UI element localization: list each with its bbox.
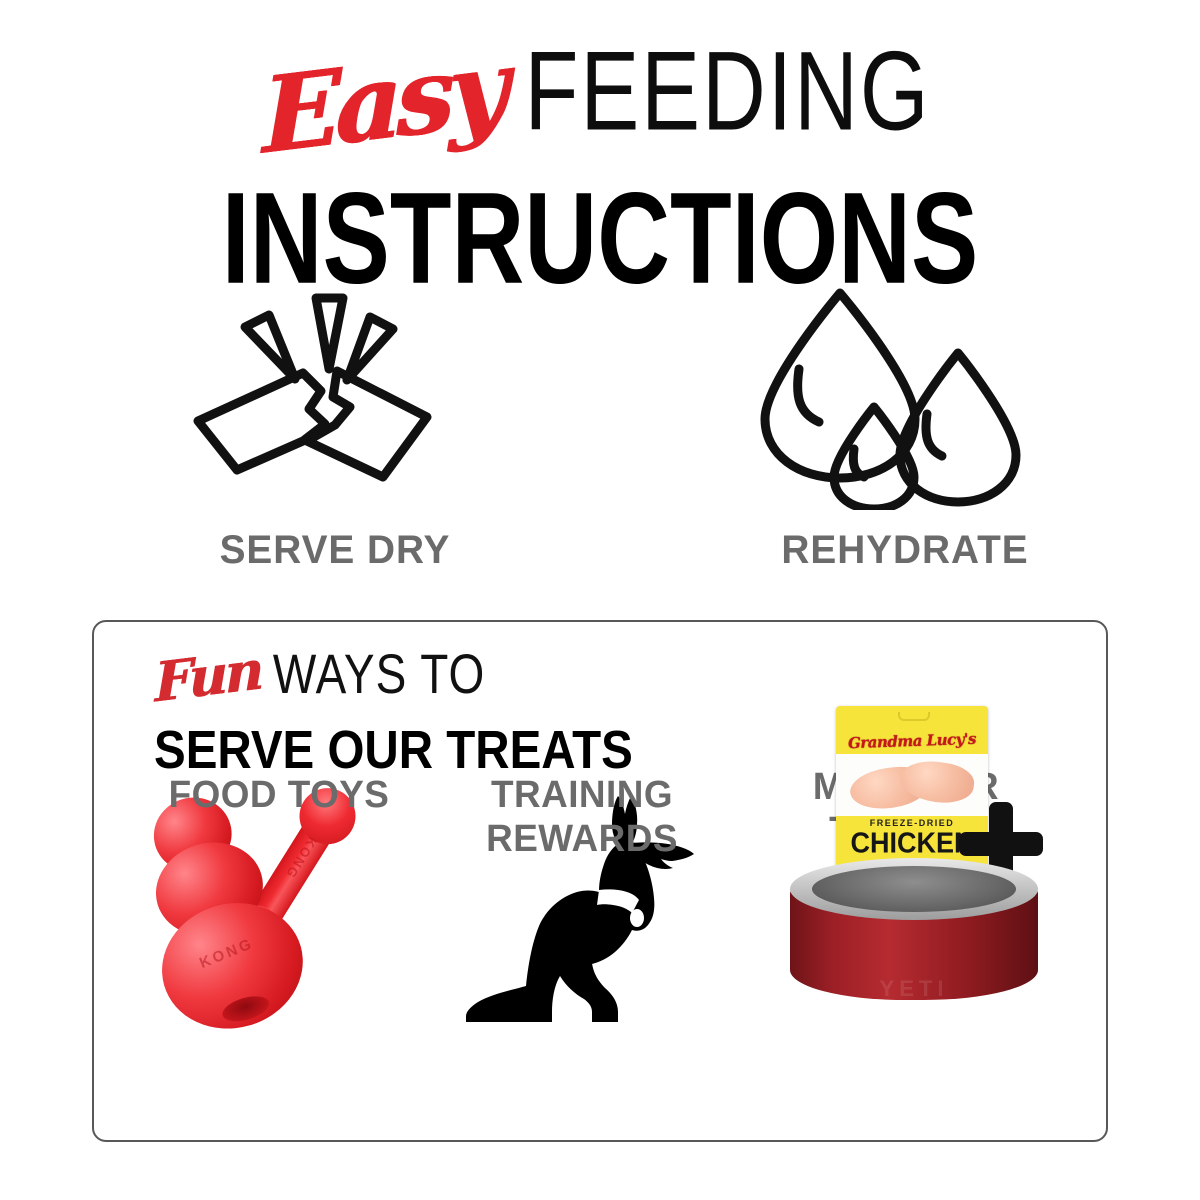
fun-column-training-rewards: TRAINING REWARDS: [442, 772, 722, 861]
option-rehydrate-label: REHYDRATE: [696, 528, 1113, 573]
title-feeding-word: FEEDING: [525, 36, 931, 148]
broken-treat-icon: [120, 280, 550, 510]
training-label-line1: TRAINING: [446, 774, 718, 818]
bowl-brand-text: YETI: [790, 976, 1038, 1002]
option-serve-dry: SERVE DRY: [120, 280, 550, 573]
fun-column-food-toys: KONG KONG FOOD TOYS: [114, 772, 444, 818]
fun-column-label-food-toys: FOOD TOYS: [119, 774, 439, 818]
fun-heading-line-1: Fun WAYS TO: [154, 650, 638, 706]
title-line-1: Easy FEEDING: [0, 30, 1200, 150]
package-plus-bowl-art: Grandma Lucy's FREEZE-DRIED CHICKEN YETI: [716, 706, 1096, 1046]
bowl-interior: [812, 866, 1016, 912]
option-rehydrate: REHYDRATE: [690, 280, 1120, 573]
fun-column-mixer-topper: Grandma Lucy's FREEZE-DRIED CHICKEN YETI: [716, 772, 1096, 853]
water-droplets-icon: [690, 280, 1120, 510]
option-serve-dry-label: SERVE DRY: [126, 528, 543, 573]
training-label-line2: REWARDS: [446, 818, 718, 862]
fun-ways-heading: Fun WAYS TO SERVE OUR TREATS: [154, 650, 638, 775]
dog-bowl: YETI: [790, 858, 1038, 1008]
serving-options-row: SERVE DRY OR REHYDRATE: [0, 280, 1200, 600]
fun-script-word: Fun: [154, 637, 261, 714]
fun-waysto-word: WAYS TO: [273, 641, 485, 706]
fun-ways-columns: KONG KONG FOOD TOYS: [94, 772, 1110, 1142]
package-hang-hole: [898, 712, 930, 721]
title-script-word: Easy: [261, 35, 503, 169]
page-title: Easy FEEDING INSTRUCTIONS: [0, 30, 1200, 278]
fun-column-label-training-rewards: TRAINING REWARDS: [446, 774, 718, 861]
package-brand-logo: Grandma Lucy's: [836, 729, 988, 752]
fun-ways-panel: Fun WAYS TO SERVE OUR TREATS KONG KONG: [92, 620, 1108, 1142]
